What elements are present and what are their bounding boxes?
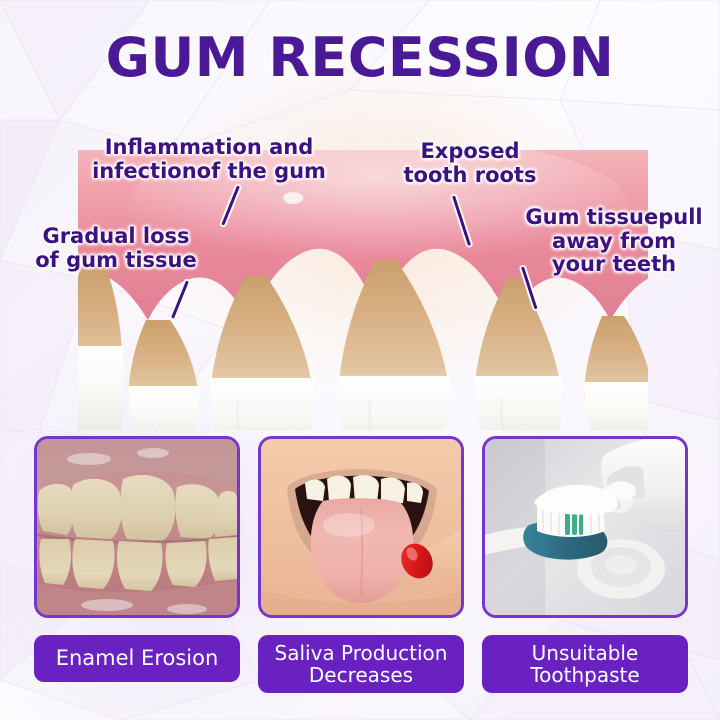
callout-inflammation: Inflammation and infectionof the gum	[78, 136, 340, 183]
tooth-5	[474, 278, 563, 430]
card-label-enamel-erosion: Enamel Erosion	[34, 635, 240, 682]
infographic-poster: GUM RECESSION	[0, 0, 720, 720]
photo-toothpaste-on-brush	[482, 436, 688, 618]
teeth-gums-photo-svg	[37, 439, 237, 615]
toothpaste-photo-svg	[485, 439, 685, 615]
tooth-2	[128, 320, 200, 430]
callout-gradual-loss: Gradual loss of gum tissue	[18, 225, 214, 272]
card-label-saliva-production: Saliva Production Decreases	[258, 635, 464, 693]
page-title: GUM RECESSION	[0, 26, 720, 89]
card-unsuitable-toothpaste[interactable]: Unsuitable Toothpaste	[482, 436, 688, 693]
card-saliva-production[interactable]: Saliva Production Decreases	[258, 436, 464, 693]
tongue-photo-svg	[261, 439, 461, 615]
photo-tongue-out	[258, 436, 464, 618]
card-label-unsuitable-toothpaste: Unsuitable Toothpaste	[482, 635, 688, 693]
tooth-4	[338, 260, 450, 430]
photo-teeth-gums-closeup	[34, 436, 240, 618]
callout-exposed-roots: Exposed tooth roots	[394, 140, 546, 187]
tooth-6	[584, 316, 648, 430]
card-enamel-erosion[interactable]: Enamel Erosion	[34, 436, 240, 682]
tooth-3	[210, 276, 315, 430]
gum-recession-illustration	[78, 150, 648, 430]
callout-gum-pull-away: Gum tissuepull away from your teeth	[516, 206, 712, 277]
cause-cards: Enamel Erosion	[0, 436, 720, 696]
tooth-1	[78, 268, 123, 430]
gum-recession-svg	[78, 150, 648, 430]
